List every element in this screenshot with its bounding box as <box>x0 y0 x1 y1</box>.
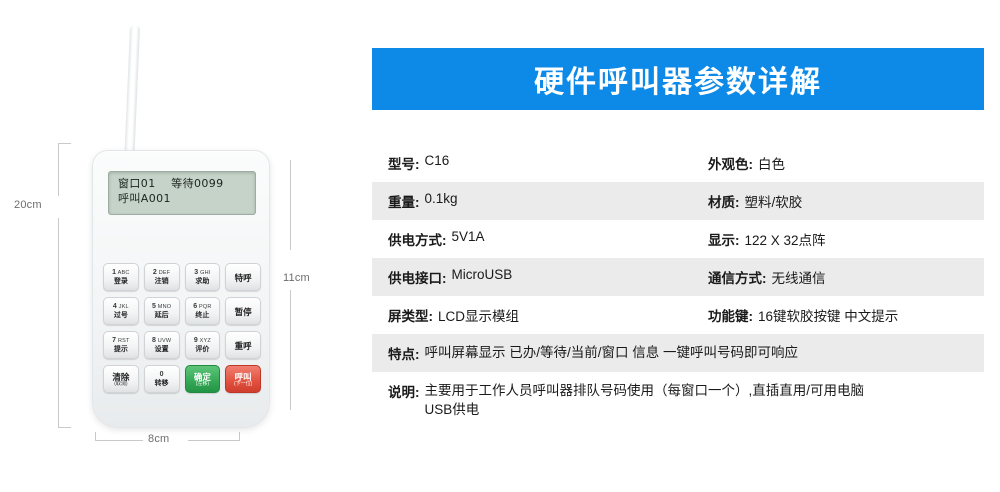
key-main-label: 特呼 <box>235 274 252 283</box>
spec-key: 显示: <box>708 229 740 249</box>
key-提示[interactable]: 7 RST提示 <box>103 331 139 359</box>
spec-row-full: 说明:主要用于工作人员呼叫器排队号码使用（每窗口一个）,直插直用/可用电脑 US… <box>372 372 984 428</box>
dimension-line-width-right <box>188 440 240 441</box>
spec-cell-left: 重量:0.1kg <box>388 191 708 211</box>
key-top-label: 8 UVW <box>152 337 171 345</box>
key-sub-label: (取消) <box>114 382 127 387</box>
spec-cell-right: 功能键:16键软胶按键 中文提示 <box>708 305 984 325</box>
dimension-line-height-upper <box>58 143 59 196</box>
spec-key: 说明: <box>388 381 420 401</box>
key-main-label: 转移 <box>155 380 169 387</box>
spec-row: 型号:C16外观色:白色 <box>372 144 984 182</box>
key-main-label: 暂停 <box>235 308 252 317</box>
key-暂停[interactable]: 暂停 <box>225 297 261 325</box>
spec-cell-right: 外观色:白色 <box>708 153 984 173</box>
spec-value: C16 <box>425 153 450 168</box>
spec-value: 主要用于工作人员呼叫器排队号码使用（每窗口一个）,直插直用/可用电脑 USB供电 <box>425 381 865 419</box>
key-评价[interactable]: 9 XYZ评价 <box>185 331 221 359</box>
key-注销[interactable]: 2 DEF注销 <box>144 263 180 291</box>
spec-cell-right: 通信方式:无线通信 <box>708 267 984 287</box>
key-top-label: 5 MNO <box>152 303 171 311</box>
key-sub-label: (下一位) <box>234 382 252 387</box>
key-main-label: 求助 <box>195 278 209 285</box>
lcd-line-2: 呼叫A001 <box>118 191 255 206</box>
key-top-label: 4 JKL <box>113 303 129 311</box>
key-登录[interactable]: 1 ABC登录 <box>103 263 139 291</box>
key-终止[interactable]: 6 PQR终止 <box>185 297 221 325</box>
spec-table: 型号:C16外观色:白色重量:0.1kg材质:塑料/软胶供电方式:5V1A显示:… <box>372 144 984 428</box>
dimension-line-width-left <box>95 440 143 441</box>
spec-cell-left: 屏类型:LCD显示模组 <box>388 305 708 325</box>
key-过号[interactable]: 4 JKL过号 <box>103 297 139 325</box>
key-main-label: 登录 <box>114 278 128 285</box>
antenna <box>124 25 140 165</box>
spec-cell-left: 供电方式:5V1A <box>388 229 708 249</box>
key-main-label: 注销 <box>155 278 169 285</box>
spec-cell-right: 材质:塑料/软胶 <box>708 191 984 211</box>
spec-cell-right: 显示:122 X 32点阵 <box>708 229 984 249</box>
lcd-screen: 窗口01 等待0099 呼叫A001 <box>108 171 256 215</box>
spec-key: 供电方式: <box>388 229 447 249</box>
key-main-label: 呼叫 <box>235 373 252 382</box>
key-top-label: 6 PQR <box>193 303 211 311</box>
key-main-label: 设置 <box>155 346 169 353</box>
spec-key: 功能键: <box>708 305 753 325</box>
spec-value: MicroUSB <box>452 267 513 282</box>
spec-value: 无线通信 <box>772 267 826 287</box>
lcd-line-1: 窗口01 等待0099 <box>118 176 255 191</box>
key-main-label: 延后 <box>155 312 169 319</box>
spec-row: 供电方式:5V1A显示:122 X 32点阵 <box>372 220 984 258</box>
spec-value: 5V1A <box>452 229 485 244</box>
key-top-label: 9 XYZ <box>194 337 211 345</box>
key-确定[interactable]: 确定(左移) <box>185 365 221 393</box>
key-清除[interactable]: 清除(取消) <box>103 365 139 393</box>
key-求助[interactable]: 3 GHI求助 <box>185 263 221 291</box>
dimension-label-height: 20cm <box>14 199 42 211</box>
key-特呼[interactable]: 特呼 <box>225 263 261 291</box>
caller-device-body: 窗口01 等待0099 呼叫A001 1 ABC登录2 DEF注销3 GHI求助… <box>92 150 270 428</box>
spec-value: 122 X 32点阵 <box>745 229 826 249</box>
spec-key: 通信方式: <box>708 267 767 287</box>
dimension-tick-right <box>239 432 240 441</box>
spec-value: 白色 <box>758 153 785 173</box>
key-main-label: 提示 <box>114 346 128 353</box>
key-重呼[interactable]: 重呼 <box>225 331 261 359</box>
spec-row: 屏类型:LCD显示模组功能键:16键软胶按键 中文提示 <box>372 296 984 334</box>
dimension-label-width: 8cm <box>148 433 169 445</box>
key-转移[interactable]: 0 转移 <box>144 365 180 393</box>
spec-key: 外观色: <box>708 153 753 173</box>
key-main-label: 确定 <box>194 373 211 382</box>
product-photo-panel: 20cm 11cm 8cm 窗口01 等待0099 呼叫A001 1 ABC登录… <box>0 0 350 492</box>
title-banner: 硬件呼叫器参数详解 <box>372 48 984 110</box>
key-main-label: 重呼 <box>235 342 252 351</box>
spec-key: 重量: <box>388 191 420 211</box>
spec-key: 型号: <box>388 153 420 173</box>
spec-cell-full: 特点:呼叫屏幕显示 已办/等待/当前/窗口 信息 一键呼叫号码即可响应 <box>388 343 798 363</box>
spec-value: 0.1kg <box>425 191 458 206</box>
spec-row: 供电接口:MicroUSB通信方式:无线通信 <box>372 258 984 296</box>
spec-cell-full: 说明:主要用于工作人员呼叫器排队号码使用（每窗口一个）,直插直用/可用电脑 US… <box>388 381 864 419</box>
dimension-line-height-lower <box>58 218 59 428</box>
spec-value: LCD显示模组 <box>438 305 519 325</box>
page-title: 硬件呼叫器参数详解 <box>534 57 822 101</box>
spec-row-full: 特点:呼叫屏幕显示 已办/等待/当前/窗口 信息 一键呼叫号码即可响应 <box>372 334 984 372</box>
key-main-label: 终止 <box>195 312 209 319</box>
dimension-tick-top <box>58 143 71 144</box>
key-设置[interactable]: 8 UVW设置 <box>144 331 180 359</box>
keypad: 1 ABC登录2 DEF注销3 GHI求助特呼4 JKL过号5 MNO延后6 P… <box>103 263 261 393</box>
spec-key: 特点: <box>388 343 420 363</box>
key-top-label: 2 DEF <box>153 269 170 277</box>
spec-panel: 硬件呼叫器参数详解 型号:C16外观色:白色重量:0.1kg材质:塑料/软胶供电… <box>372 0 984 492</box>
key-main-label: 过号 <box>114 312 128 319</box>
key-main-label: 清除 <box>112 373 129 382</box>
product-spec-page: 20cm 11cm 8cm 窗口01 等待0099 呼叫A001 1 ABC登录… <box>0 0 1000 492</box>
key-sub-label: (左移) <box>196 382 209 387</box>
dimension-line-depth-upper <box>290 160 291 250</box>
key-top-label: 1 ABC <box>112 269 129 277</box>
key-top-label: 3 GHI <box>194 269 210 277</box>
key-top-label: 0 <box>160 371 164 379</box>
spec-value: 16键软胶按键 中文提示 <box>758 305 898 325</box>
dimension-tick-bottom <box>58 427 71 428</box>
spec-row: 重量:0.1kg材质:塑料/软胶 <box>372 182 984 220</box>
spec-key: 供电接口: <box>388 267 447 287</box>
spec-cell-left: 型号:C16 <box>388 153 708 173</box>
spec-key: 材质: <box>708 191 740 211</box>
key-延后[interactable]: 5 MNO延后 <box>144 297 180 325</box>
key-main-label: 评价 <box>195 346 209 353</box>
dimension-label-depth: 11cm <box>283 272 310 284</box>
key-top-label: 7 RST <box>112 337 129 345</box>
spec-value: 塑料/软胶 <box>745 191 803 211</box>
key-呼叫[interactable]: 呼叫(下一位) <box>225 365 261 393</box>
dimension-line-depth-lower <box>290 290 291 410</box>
spec-key: 屏类型: <box>388 305 433 325</box>
spec-value: 呼叫屏幕显示 已办/等待/当前/窗口 信息 一键呼叫号码即可响应 <box>425 343 799 362</box>
spec-cell-left: 供电接口:MicroUSB <box>388 267 708 287</box>
